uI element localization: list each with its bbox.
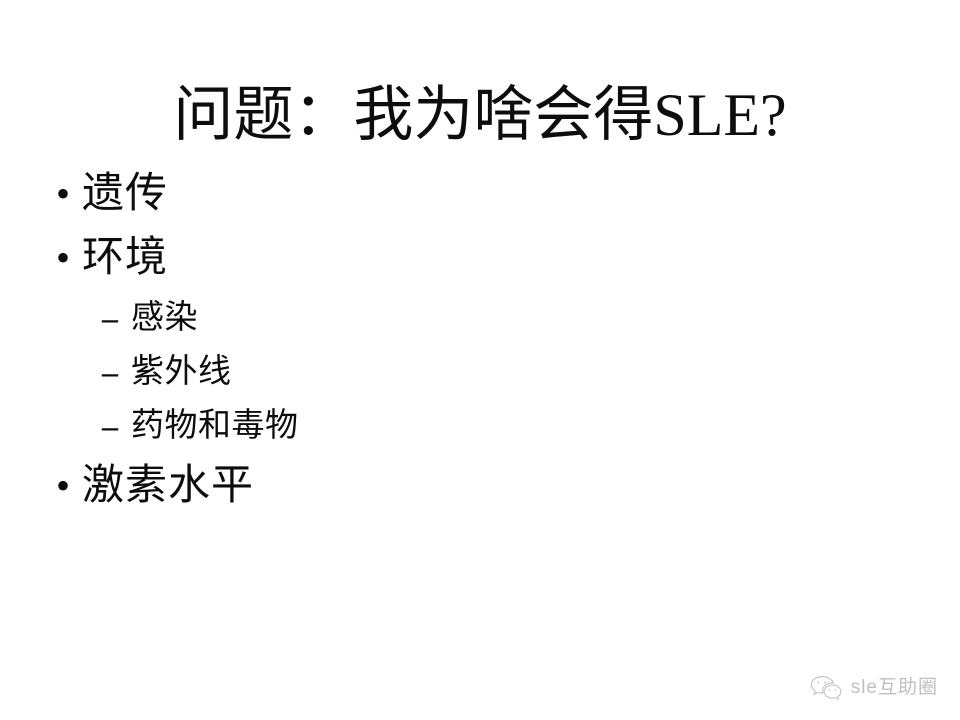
list-item: • 激素水平	[48, 456, 868, 516]
sub-list-item: – 感染	[48, 292, 868, 344]
bullet-dash-icon: –	[48, 400, 131, 452]
bullet-dot-icon: •	[48, 228, 82, 288]
list-item: • 遗传	[48, 164, 868, 224]
bullet-dash-icon: –	[48, 346, 131, 398]
sub-list-item-label: 感染	[131, 292, 198, 344]
bullet-list: • 遗传 • 环境 – 感染 – 紫外线 – 药物和毒物 • 激素水平	[48, 164, 868, 520]
list-item: • 环境	[48, 228, 868, 288]
watermark-label: sle互助圈	[851, 677, 938, 699]
sub-list-item: – 药物和毒物	[48, 400, 868, 452]
watermark: sle互助圈	[809, 674, 938, 702]
page-title: 问题：我为啥会得SLE?	[0, 78, 960, 152]
list-item-label: 激素水平	[82, 456, 254, 516]
bullet-dot-icon: •	[48, 456, 82, 516]
list-item-label: 环境	[82, 228, 168, 288]
list-item-label: 遗传	[82, 164, 168, 224]
wechat-logo-icon	[809, 674, 843, 702]
bullet-dot-icon: •	[48, 164, 82, 224]
bullet-dash-icon: –	[48, 292, 131, 344]
sub-list-item-label: 紫外线	[131, 346, 232, 398]
sub-list: – 感染 – 紫外线 – 药物和毒物	[48, 292, 868, 452]
sub-list-item: – 紫外线	[48, 346, 868, 398]
sub-list-item-label: 药物和毒物	[131, 400, 299, 452]
slide-canvas: 问题：我为啥会得SLE? • 遗传 • 环境 – 感染 – 紫外线 – 药物和毒…	[0, 0, 960, 720]
